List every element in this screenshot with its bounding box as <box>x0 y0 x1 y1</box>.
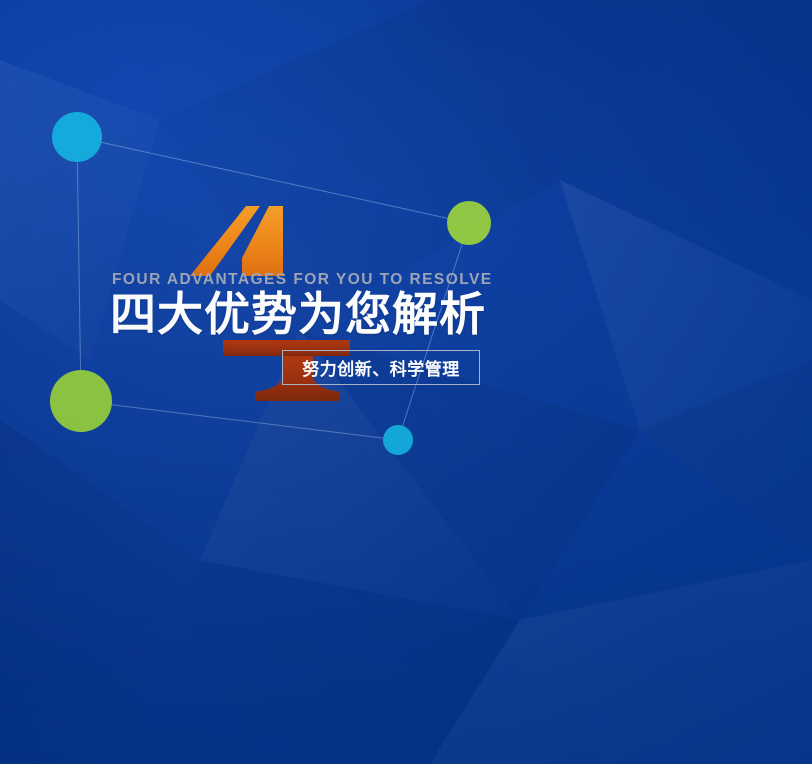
line-cyanL-greenL <box>77 137 81 401</box>
line-greenL-cyanS <box>81 401 398 440</box>
tagline-badge-label: 努力创新、科学管理 <box>302 355 460 380</box>
eyebrow-english-text: FOUR ADVANTAGES FOR YOU TO RESOLVE <box>112 271 493 289</box>
node-cyan-large <box>52 112 102 162</box>
page-title: 四大优势为您解析 <box>110 289 486 339</box>
node-cyan-small <box>383 425 413 455</box>
node-green-small <box>447 201 491 245</box>
line-cyanL-greenS <box>77 137 469 223</box>
node-green-large <box>50 370 112 432</box>
promo-banner: FOUR ADVANTAGES FOR YOU TO RESOLVE 四大优势为… <box>0 0 812 764</box>
tagline-badge[interactable]: 努力创新、科学管理 <box>282 350 480 385</box>
